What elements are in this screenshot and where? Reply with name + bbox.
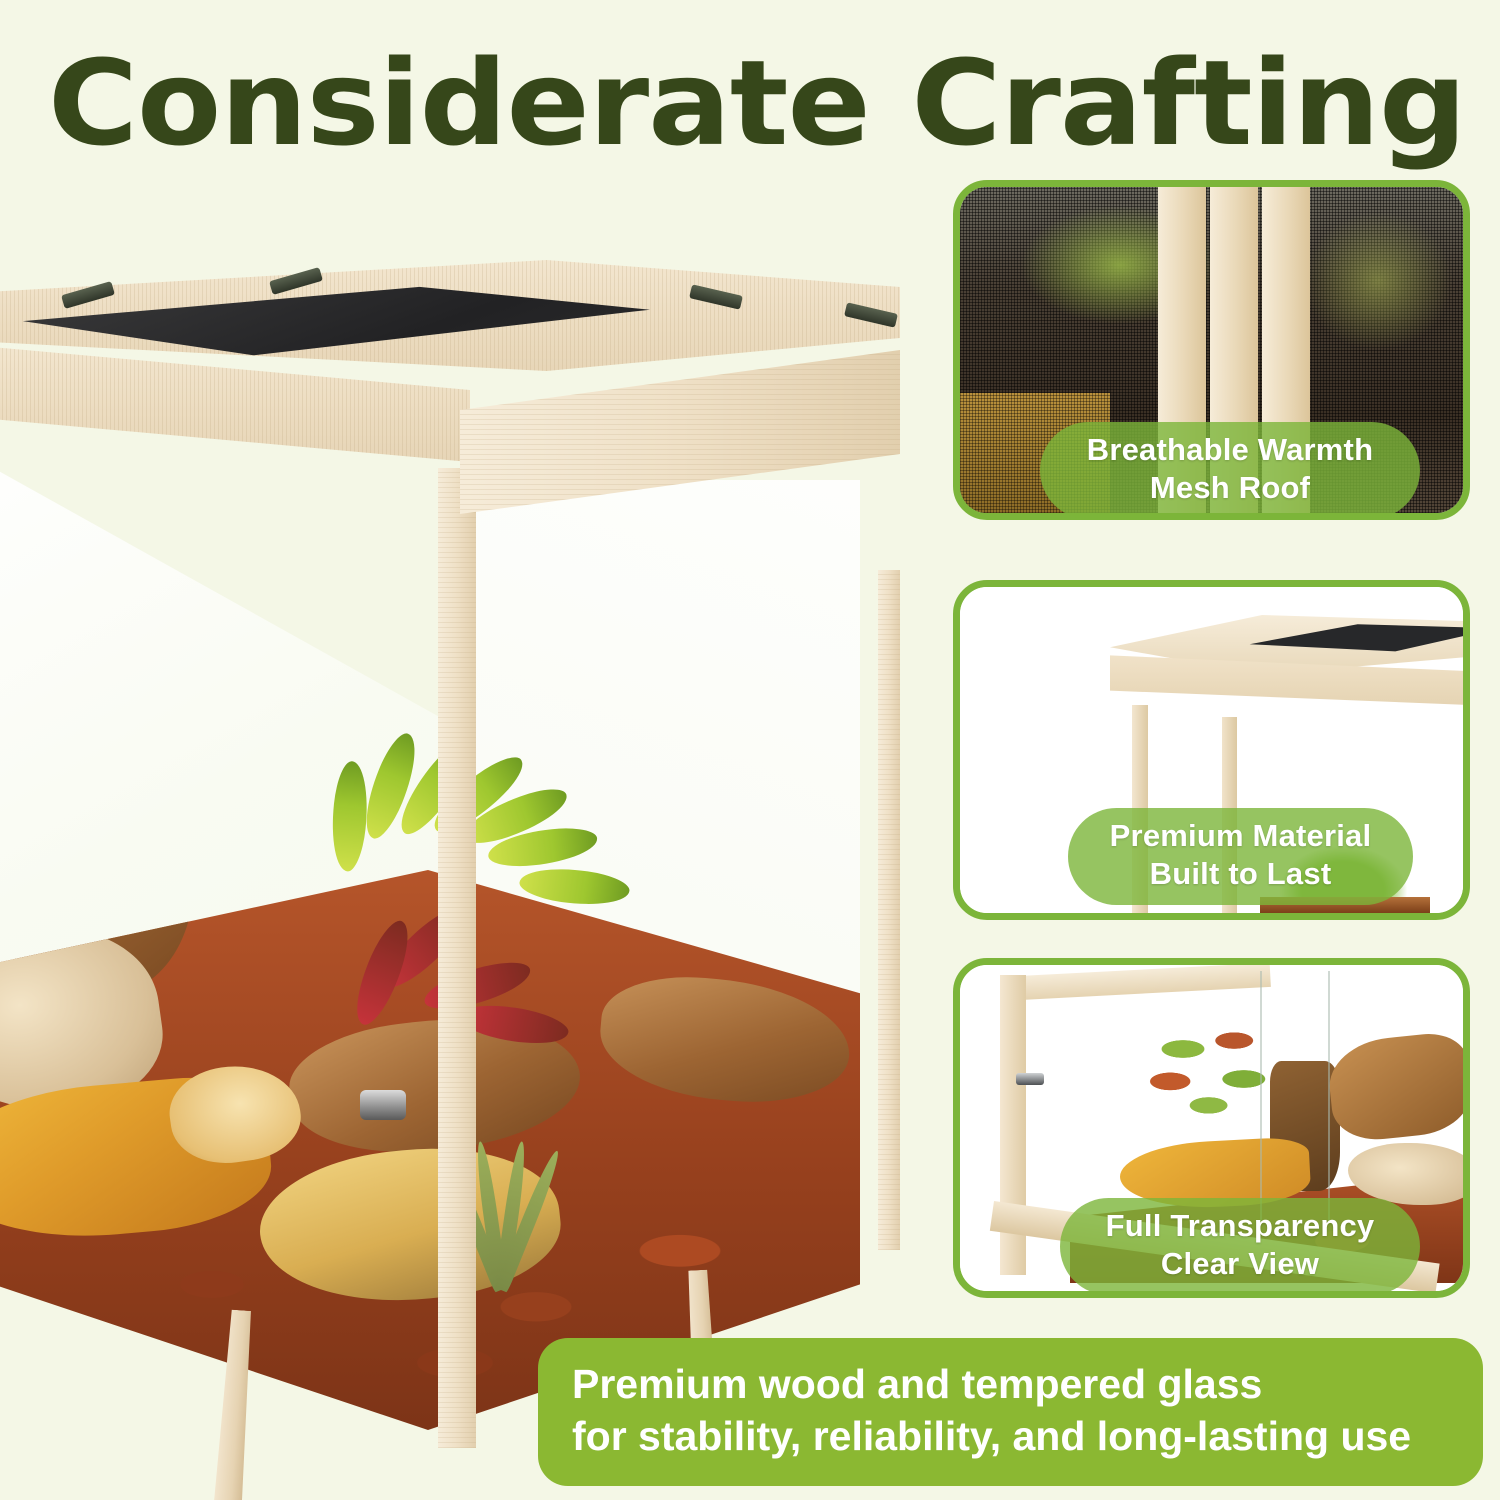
- glass-edge-line: [1260, 971, 1262, 1221]
- lamp-fixture: [360, 1090, 406, 1120]
- artificial-plant: [1135, 1019, 1295, 1139]
- bottom-caption-banner: Premium wood and tempered glass for stab…: [538, 1338, 1483, 1486]
- bottom-caption-line2: for stability, reliability, and long-las…: [572, 1410, 1455, 1462]
- feature-label-line2: Built to Last: [1068, 855, 1413, 893]
- feature-label-line1: Premium Material: [1110, 818, 1372, 853]
- feature-label-breathable-warmth: Breathable Warmth Mesh Roof: [1040, 422, 1420, 519]
- hero-product-photo: [0, 250, 960, 1500]
- corner-post: [438, 468, 476, 1448]
- latch-icon: [1016, 1073, 1044, 1085]
- croton-plant: [330, 810, 650, 1110]
- feature-label-line2: Mesh Roof: [1040, 469, 1420, 507]
- feature-label-line1: Full Transparency: [1106, 1208, 1375, 1243]
- right-frame-edge: [878, 570, 900, 1250]
- bottom-caption-line1: Premium wood and tempered glass: [572, 1361, 1262, 1407]
- frame-rail-top: [1000, 963, 1271, 1001]
- feature-label-premium-material: Premium Material Built to Last: [1068, 808, 1413, 905]
- feature-label-full-transparency: Full Transparency Clear View: [1060, 1198, 1420, 1295]
- foliage-blur: [1303, 211, 1453, 351]
- driftwood-branch: [1325, 1030, 1470, 1144]
- glass-edge-line: [1328, 971, 1330, 1221]
- feature-label-line1: Breathable Warmth: [1087, 432, 1373, 467]
- page-title: Considerate Crafting: [48, 44, 1500, 162]
- feature-label-line2: Clear View: [1060, 1245, 1420, 1283]
- front-frame-rail: [0, 345, 470, 495]
